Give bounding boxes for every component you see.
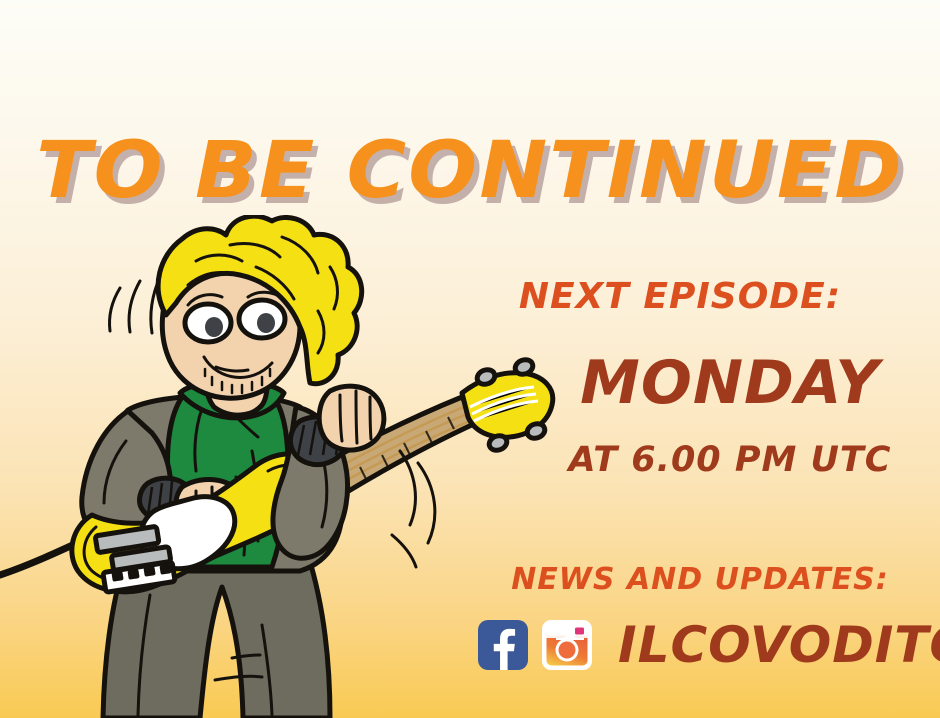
bridge bbox=[103, 562, 175, 593]
eyes bbox=[185, 300, 285, 342]
strumming-arm bbox=[82, 411, 246, 539]
stubble bbox=[205, 369, 270, 393]
next-episode-label: NEXT EPISODE: bbox=[470, 276, 890, 317]
bass-guitar bbox=[72, 357, 553, 592]
pants bbox=[103, 555, 330, 718]
news-and-updates-label: NEWS AND UPDATES: bbox=[490, 562, 910, 597]
next-episode-day: MONDAY bbox=[520, 348, 940, 418]
jacket-body bbox=[95, 395, 342, 571]
instagram-icon[interactable] bbox=[542, 620, 592, 670]
pickups bbox=[95, 526, 171, 570]
neck bbox=[205, 365, 267, 415]
facebook-icon[interactable] bbox=[478, 620, 528, 670]
green-hoodie bbox=[168, 387, 288, 567]
to-be-continued-card: .ol { stroke:#15120e; stroke-width:5; st… bbox=[0, 0, 940, 718]
hoodie-collar bbox=[180, 381, 284, 418]
fretting-arm bbox=[273, 386, 384, 558]
page-title: TO BE CONTINUED bbox=[0, 126, 940, 216]
social-row: ILCOVODITOM bbox=[478, 620, 940, 670]
motion-lines-right bbox=[392, 451, 435, 567]
social-handle[interactable]: ILCOVODITOM bbox=[618, 620, 940, 670]
hair bbox=[158, 216, 362, 384]
guitar-cable bbox=[0, 537, 90, 575]
next-episode-time: AT 6.00 PM UTC bbox=[520, 440, 940, 480]
head bbox=[162, 250, 300, 398]
motion-lines-left bbox=[109, 277, 160, 333]
